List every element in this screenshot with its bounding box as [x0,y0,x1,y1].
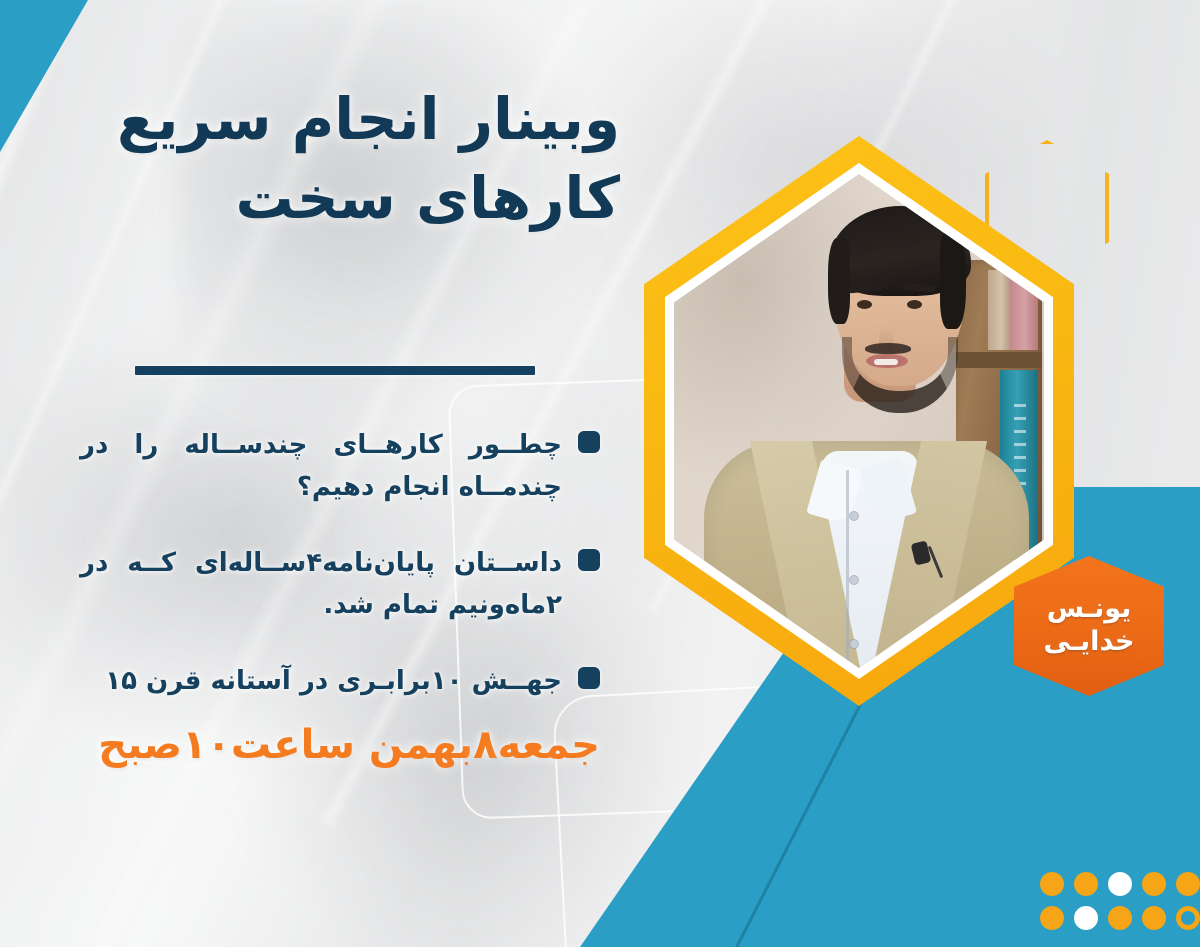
list-item: داســتان پایان‌نامه۴ســاله‌ای کــه در ۲م… [80,542,600,626]
headline-divider [135,366,535,375]
dot [1176,872,1200,896]
bullet-text: داســتان پایان‌نامه۴ســاله‌ای کــه در ۲م… [80,542,562,626]
poster-headline: وبینار انجام سریع کارهای سخت [60,82,620,237]
headline-line-1: وبینار انجام سریع [60,82,620,157]
dot [1040,872,1064,896]
photo-bookshelf-divider [956,352,1042,368]
bullet-list: چطــور کارهــای چندســاله را در چندمــاه… [80,424,600,737]
dot [1142,872,1166,896]
dot [1074,872,1098,896]
dot [1108,906,1132,930]
dot [1074,906,1098,930]
bullet-text: چطــور کارهــای چندســاله را در چندمــاه… [80,424,562,508]
decorative-dot-grid [1040,872,1200,930]
headline-line-2: کارهای سخت [60,161,620,236]
speaker-first-name: یونـس [1047,593,1132,626]
bullet-square-icon [578,431,600,453]
photo-shirt-placket [846,470,849,668]
dot [1108,872,1132,896]
list-item: جهــش ۱۰برابـری در آستانه قرن ۱۵ [80,660,600,702]
dot [1040,906,1064,930]
photo-hair-side-left [828,238,850,324]
dot [1142,906,1166,930]
bullet-text: جهــش ۱۰برابـری در آستانه قرن ۱۵ [80,660,562,702]
speaker-last-name: خدایـی [1044,626,1135,659]
photo-hair-side-right [940,233,966,329]
photo-shirt-button [850,512,858,520]
photo-moustache [865,343,911,354]
photo-book-beige [988,270,1010,350]
bullet-square-icon [578,667,600,689]
dot [1176,906,1200,930]
event-date-time: جمعه۸بهمن ساعت۱۰صبح [80,722,600,768]
photo-teeth [874,359,898,365]
photo-shirt-button [850,576,858,584]
photo-shirt-button [850,640,858,648]
list-item: چطــور کارهــای چندســاله را در چندمــاه… [80,424,600,508]
webinar-poster: وبینار انجام سریع کارهای سخت چطــور کاره… [0,0,1200,947]
bullet-square-icon [578,549,600,571]
